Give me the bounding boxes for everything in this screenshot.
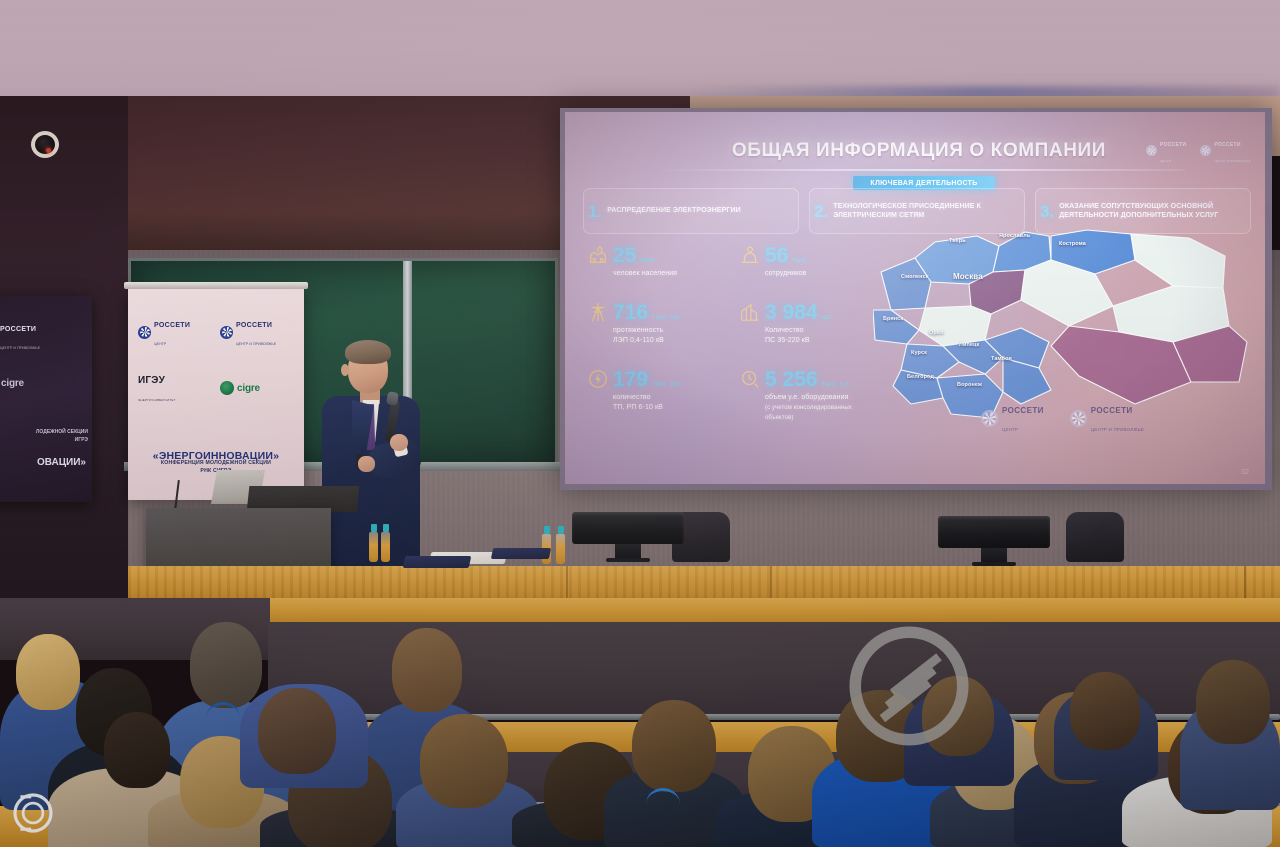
camera-led-icon	[46, 148, 51, 153]
speaker-hair	[345, 340, 391, 364]
stat-desc-line1: сотрудников	[765, 270, 806, 277]
title-underline	[657, 169, 1185, 171]
bottle-cap	[383, 524, 389, 532]
folder-on-table	[403, 556, 472, 568]
rosseti-mark-icon	[981, 410, 998, 427]
slide-statistics: 25 млн человек населения 56	[587, 244, 887, 445]
logo-sub: ЦЕНТР	[154, 342, 166, 346]
stat-description: количество ТП, РП 6-10 кВ	[613, 393, 723, 413]
banner-logo-rosseti-cp: РОССЕТИ ЦЕНТР И ПРИВОЛЖЬЕ	[220, 314, 290, 350]
audience-head	[632, 700, 716, 792]
stat-unit: тыс.	[792, 257, 808, 266]
stat-row-3: 179 тыс. шт. количество ТП, РП 6-10 кВ	[587, 368, 887, 423]
audience-head	[104, 712, 170, 788]
activity-label: ОКАЗАНИЕ СОПУТСТВУЮЩИХ ОСНОВНОЙ ДЕЯТЕЛЬН…	[1059, 202, 1244, 220]
stat-description: объем у.е. оборудования (с учетом консол…	[765, 393, 875, 423]
rosseti-center-logo-footer: РОССЕТИ ЦЕНТР	[981, 400, 1044, 436]
map-label-kursk: Курск	[911, 350, 927, 356]
city-icon	[587, 244, 609, 266]
logo-sub: ЦЕНТР И ПРИВОЛЖЬЕ	[1214, 159, 1251, 163]
banner-logo-rosseti-center: РОССЕТИ ЦЕНТР	[138, 314, 208, 350]
logo-sub: ЦЕНТР И ПРИВОЛЖЬЕ	[1091, 427, 1144, 432]
map-label-tambov: Тамбов	[991, 356, 1012, 362]
stat-value: 5 256	[765, 370, 818, 390]
stat-unit: тыс. шт.	[652, 381, 681, 390]
logo-sub: ЭНЕРГОУНИВЕРСИТЕТ	[138, 398, 176, 402]
rosseti-mark-icon	[1146, 145, 1157, 156]
photographer-icon	[6, 786, 60, 840]
logo-name: РОССЕТИ	[1214, 142, 1240, 148]
stat-desc-line1: Количество	[765, 327, 804, 334]
logo-sub: ЦЕНТР	[1160, 159, 1171, 163]
stage-monitor-left[interactable]	[572, 512, 684, 562]
rosseti-cp-logo-footer: РОССЕТИ ЦЕНТР И ПРИВОЛЖЬЕ	[1070, 400, 1144, 436]
stat-power-lines: 716 тыс. км протяженность ЛЭП 0,4-110 кВ	[587, 301, 723, 346]
stat-value: 56	[765, 246, 788, 266]
stat-unit: шт.	[822, 314, 833, 323]
rosseti-mark-icon	[1070, 410, 1087, 427]
emblem-icon	[845, 622, 973, 750]
stat-employees: 56 тыс. сотрудников	[739, 244, 875, 279]
stat-desc-line1: протяженность	[613, 327, 663, 334]
stat-value: 25	[613, 246, 636, 266]
speaker-hand-left	[358, 456, 375, 472]
monitor-base	[972, 562, 1016, 566]
logo-name: РОССЕТИ	[0, 326, 36, 333]
rosseti-mark-icon	[220, 326, 233, 339]
logo-name: РОССЕТИ	[154, 322, 190, 329]
stat-equipment-volume: 5 256 тыс. у.е. объем у.е. оборудования …	[739, 368, 875, 423]
stat-desc-line2: ЛЭП 0,4-110 кВ	[613, 337, 664, 344]
speaker-hand-right	[390, 434, 408, 451]
audience-head	[1196, 660, 1270, 744]
activity-number: 2.	[814, 203, 828, 220]
rosseti-center-logo-small: РОССЕТИ ЦЕНТР	[1146, 134, 1186, 166]
stat-desc-line2: ПС 35-220 кВ	[765, 337, 810, 344]
map-label-bryansk: Брянск	[883, 316, 903, 322]
slide-footer-logos: РОССЕТИ ЦЕНТР РОССЕТИ ЦЕНТР И ПРИВОЛЖЬЕ	[981, 400, 1144, 436]
audience-head	[392, 628, 462, 712]
substation-icon	[739, 301, 761, 323]
map-label-yaroslavl: Ярославль	[999, 233, 1030, 239]
slide-header-logos: РОССЕТИ ЦЕНТР РОССЕТИ ЦЕНТР И ПРИВОЛЖЬЕ	[1146, 134, 1251, 166]
logo-name: РОССЕТИ	[1091, 406, 1133, 415]
activity-label: РАСПРЕДЕЛЕНИЕ ЭЛЕКТРОЭНЕРГИИ	[607, 206, 741, 215]
secondary-banner: РОССЕТИ ЦЕНТР И ПРИВОЛЖЬЕ cigre ЛОДЕЖНОЙ…	[0, 296, 92, 502]
stat-description: Количество ПС 35-220 кВ	[765, 326, 875, 346]
meter-icon	[739, 368, 761, 390]
stat-row-1: 25 млн человек населения 56	[587, 244, 887, 279]
bottle-cap	[371, 524, 377, 532]
rosseti-mark-icon	[138, 326, 151, 339]
map-label-lipetsk: Липецк	[959, 342, 979, 348]
stat-transformer-points: 179 тыс. шт. количество ТП, РП 6-10 кВ	[587, 368, 723, 423]
monitor-stand	[981, 548, 1007, 562]
stat-desc-line1: человек населения	[613, 270, 677, 277]
logo-sub: ЦЕНТР	[1002, 427, 1018, 432]
banner-logo-igeu: ИГЭУ ЭНЕРГОУНИВЕРСИТЕТ	[138, 370, 208, 406]
bottle-cap	[558, 526, 564, 534]
hall-emblem-watermark	[845, 622, 973, 750]
stat-value: 3 984	[765, 303, 818, 323]
bottle-cap	[544, 526, 550, 534]
stat-description: человек населения	[613, 269, 723, 279]
map-label-smolensk: Смоленск	[901, 274, 929, 280]
pylon-icon	[587, 301, 609, 323]
banner-dark-logo-cigre: cigre	[0, 376, 54, 390]
banner-top-bar	[124, 282, 308, 289]
secondary-banner-subtitle: ЛОДЕЖНОЙ СЕКЦИИ ИГРЭ	[0, 429, 92, 444]
map-label-kostroma: Кострома	[1059, 241, 1086, 247]
secondary-banner-title: ОВАЦИИ»	[0, 457, 92, 468]
conference-hall-photo: ОБЩАЯ ИНФОРМАЦИЯ О КОМПАНИИ РОССЕТИ ЦЕНТ…	[0, 0, 1280, 847]
ceiling-camera-icon	[31, 131, 59, 158]
banner-logo-grid: РОССЕТИ ЦЕНТР РОССЕТИ ЦЕНТР И ПРИВОЛЖЬЕ …	[138, 314, 294, 418]
stat-desc-line2: (с учетом консолидированных объектов)	[765, 405, 852, 421]
bolt-icon	[587, 368, 609, 390]
rosseti-cp-logo-small: РОССЕТИ ЦЕНТР И ПРИВОЛЖЬЕ	[1200, 134, 1251, 166]
water-bottle	[381, 524, 390, 562]
logo-sub: ЦЕНТР И ПРИВОЛЖЬЕ	[236, 342, 276, 346]
audience-head	[1070, 672, 1140, 750]
speaker-ear	[341, 364, 349, 376]
audience-head	[420, 714, 508, 808]
cigre-mark-icon	[220, 381, 234, 395]
map-label-orel: Орел	[929, 330, 944, 336]
stat-desc-line2: ТП, РП 6-10 кВ	[613, 404, 663, 411]
water-bottle	[369, 524, 378, 562]
activity-number: 3.	[1040, 203, 1054, 220]
bottle-body	[381, 532, 390, 562]
presentation-slide: ОБЩАЯ ИНФОРМАЦИЯ О КОМПАНИИ РОССЕТИ ЦЕНТ…	[565, 112, 1265, 484]
stat-desc-line1: количество	[613, 394, 651, 401]
audience-head	[258, 688, 336, 774]
monitor-base	[606, 558, 650, 562]
monitor-screen	[572, 512, 684, 544]
stat-value: 179	[613, 370, 648, 390]
logo-name: cigre	[1, 378, 24, 389]
monitor-screen	[938, 516, 1050, 548]
bottle-body	[556, 534, 565, 564]
stat-description: сотрудников	[765, 269, 875, 279]
stat-row-2: 716 тыс. км протяженность ЛЭП 0,4-110 кВ	[587, 301, 887, 346]
stat-population: 25 млн человек населения	[587, 244, 723, 279]
stat-unit: тыс. у.е.	[822, 381, 852, 390]
rosseti-mark-icon	[1200, 145, 1211, 156]
activity-box-1: 1. РАСПРЕДЕЛЕНИЕ ЭЛЕКТРОЭНЕРГИИ	[583, 188, 799, 234]
logo-name: РОССЕТИ	[236, 322, 272, 329]
stat-desc-line1: объем у.е. оборудования	[765, 394, 848, 401]
bottle-body	[369, 532, 378, 562]
logo-name: cigre	[237, 383, 260, 394]
logo-name: РОССЕТИ	[1160, 142, 1186, 148]
stat-description: протяженность ЛЭП 0,4-110 кВ	[613, 326, 723, 346]
map-label-belgorod: Белгород	[907, 374, 934, 380]
slide-title: ОБЩАЯ ИНФОРМАЦИЯ О КОМПАНИИ	[669, 140, 1169, 162]
logo-name: РОССЕТИ	[1002, 406, 1044, 415]
audience-head	[16, 634, 80, 710]
logo-sub: ЦЕНТР И ПРИВОЛЖЬЕ	[0, 346, 40, 350]
slide-page-number: 02	[1241, 469, 1249, 476]
stat-value: 716	[613, 303, 648, 323]
logo-name: ИГЭУ	[138, 375, 165, 386]
activity-label: ТЕХНОЛОГИЧЕСКОЕ ПРИСОЕДИНЕНИЕ К ЭЛЕКТРИЧ…	[833, 202, 1018, 220]
banner-dark-logo-rosseti: РОССЕТИ ЦЕНТР И ПРИВОЛЖЬЕ	[0, 318, 54, 354]
photographer-mark-watermark	[6, 786, 60, 840]
banner-logo-cigre: cigre	[220, 370, 290, 406]
map-label-tver: Тверь	[949, 238, 966, 244]
stage-monitor-right[interactable]	[938, 516, 1050, 566]
map-label-moscow: Москва	[953, 272, 983, 281]
people-icon	[739, 244, 761, 266]
stat-unit: млн	[640, 257, 654, 266]
activity-number: 1.	[588, 203, 602, 220]
audience-head	[190, 622, 262, 708]
folder-on-table	[491, 548, 551, 559]
water-bottle	[556, 526, 565, 564]
monitor-stand	[615, 544, 641, 558]
map-label-voronezh: Воронеж	[957, 382, 982, 388]
stat-substations: 3 984 шт. Количество ПС 35-220 кВ	[739, 301, 875, 346]
event-rollup-banner: РОССЕТИ ЦЕНТР РОССЕТИ ЦЕНТР И ПРИВОЛЖЬЕ …	[128, 288, 304, 500]
stage-chair	[1066, 512, 1124, 562]
podium	[146, 508, 331, 572]
stat-unit: тыс. км	[652, 314, 679, 323]
